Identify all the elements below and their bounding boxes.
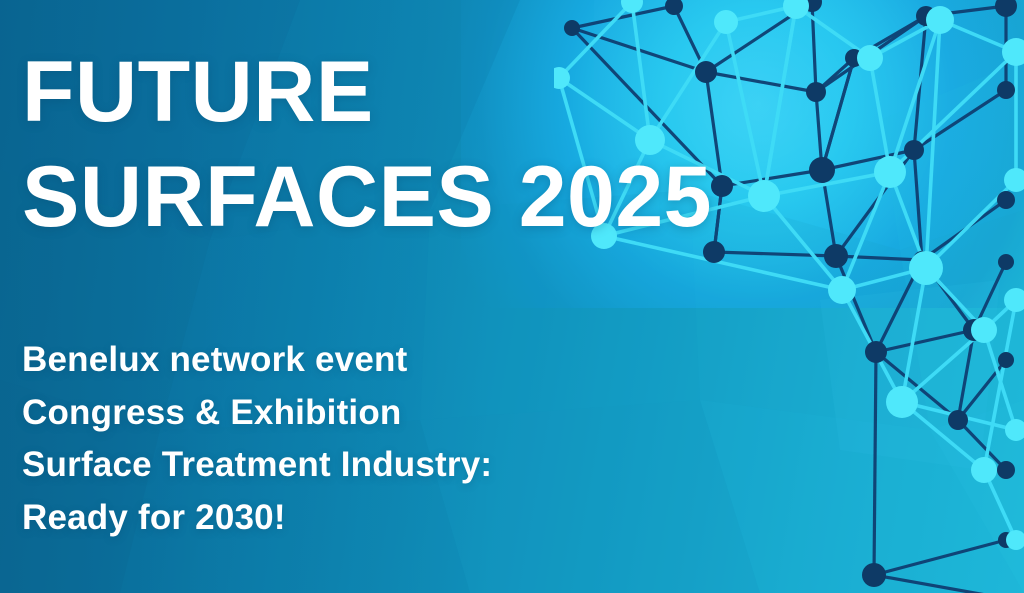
network-mesh-graphic [554,0,1024,593]
event-banner: FUTURE SURFACES 2025 Benelux network eve… [0,0,1024,593]
